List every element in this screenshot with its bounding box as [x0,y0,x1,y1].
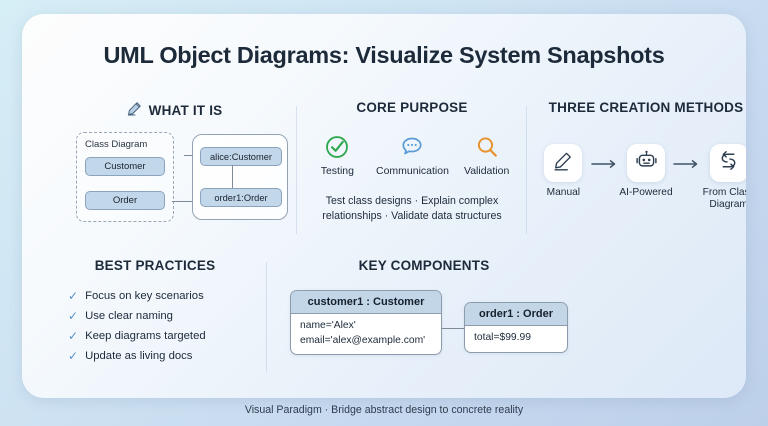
divider-top-right [526,106,527,234]
creation-methods-row: Manual [536,144,746,211]
connector-object-link [232,165,233,188]
method-tile-manual [544,144,582,182]
uml-object-header-customer1: customer1 : Customer [291,291,441,314]
check-icon: ✓ [68,290,78,302]
divider-bottom [266,262,267,372]
class-box-order: Order [85,191,165,210]
section-key-components: KEY COMPONENTS customer1 : Customer name… [274,258,574,274]
section-heading-core-purpose: CORE PURPOSE [300,100,524,116]
pencil-write-icon [552,150,574,177]
list-item: ✓ Focus on key scenarios [68,286,258,306]
section-what-it-is: WHAT IT IS Class Diagram Customer Order … [54,100,294,121]
footer-text: Visual Paradigm · Bridge abstract design… [0,404,768,416]
connector-class-to-object [172,201,194,202]
method-label-manual: Manual [536,187,591,199]
method-label-from-class-diagram: From Class Diagram [701,187,746,211]
core-purpose-description: Test class designs · Explain complex rel… [302,194,522,224]
arrow-right-icon-1 [591,144,619,169]
list-item: ✓ Use clear naming [68,306,258,326]
pencil-icon [126,100,143,121]
uml-object-header-order1: order1 : Order [465,303,567,326]
uml-attribute: total=$99.99 [474,331,558,346]
check-icon: ✓ [68,330,78,342]
best-practices-list: ✓ Focus on key scenarios ✓ Use clear nam… [68,286,258,366]
class-box-customer: Customer [85,157,165,176]
object-box-alice: alice:Customer [200,147,282,166]
method-tile-ai-powered [627,144,665,182]
magnifier-icon [451,132,523,162]
uml-link-line [442,328,464,329]
list-item: ✓ Update as living docs [68,346,258,366]
section-creation-methods: THREE CREATION METHODS Manual [532,100,746,116]
content-card: UML Object Diagrams: Visualize System Sn… [22,14,746,398]
chat-bubble-icon [376,132,448,162]
transform-arrows-icon [717,149,740,177]
uml-object-attributes-order1: total=$99.99 [465,326,567,352]
check-circle-icon [301,132,373,162]
best-practice-label: Use clear naming [85,310,173,322]
page-title: UML Object Diagrams: Visualize System Sn… [22,42,746,69]
what-it-is-diagram: Class Diagram Customer Order alice:Custo… [76,132,288,224]
arrow-right-icon-2 [673,144,701,169]
section-best-practices: BEST PRACTICES ✓ Focus on key scenarios … [52,258,258,274]
core-item-label-testing: Testing [301,165,373,177]
method-label-ai-powered: AI-Powered [619,187,674,199]
core-purpose-items: Testing Communication [300,132,524,177]
best-practice-label: Focus on key scenarios [85,290,204,302]
divider-top-left [296,106,297,234]
core-item-testing: Testing [301,132,373,177]
uml-object-attributes-customer1: name='Alex' email='alex@example.com' [291,314,441,354]
section-label-what-it-is: WHAT IT IS [149,103,223,119]
best-practice-label: Keep diagrams targeted [85,330,206,342]
uml-attribute: name='Alex' [300,319,432,334]
uml-object-order1: order1 : Order total=$99.99 [464,302,568,353]
section-heading-best-practices: BEST PRACTICES [52,258,258,274]
check-icon: ✓ [68,310,78,322]
uml-attribute: email='alex@example.com' [300,334,432,349]
robot-icon [635,149,658,177]
method-ai-powered: AI-Powered [619,144,674,199]
class-diagram-label: Class Diagram [85,139,147,150]
uml-object-customer1: customer1 : Customer name='Alex' email='… [290,290,442,355]
method-from-class-diagram: From Class Diagram [701,144,746,211]
core-item-label-validation: Validation [451,165,523,177]
object-box-order1: order1:Order [200,188,282,207]
section-core-purpose: CORE PURPOSE Testing [300,100,524,116]
core-item-label-communication: Communication [376,165,448,177]
infographic-page: UML Object Diagrams: Visualize System Sn… [0,0,768,426]
core-item-communication: Communication [376,132,448,177]
class-diagram-group: Class Diagram Customer Order [76,132,174,222]
best-practice-label: Update as living docs [85,350,192,362]
object-diagram-group: alice:Customer order1:Order [192,134,288,220]
method-manual: Manual [536,144,591,199]
section-heading-key-components: KEY COMPONENTS [274,258,574,274]
section-heading-what-it-is: WHAT IT IS [54,100,294,121]
check-icon: ✓ [68,350,78,362]
core-item-validation: Validation [451,132,523,177]
list-item: ✓ Keep diagrams targeted [68,326,258,346]
section-heading-creation-methods: THREE CREATION METHODS [532,100,746,116]
method-tile-from-class-diagram [710,144,746,182]
